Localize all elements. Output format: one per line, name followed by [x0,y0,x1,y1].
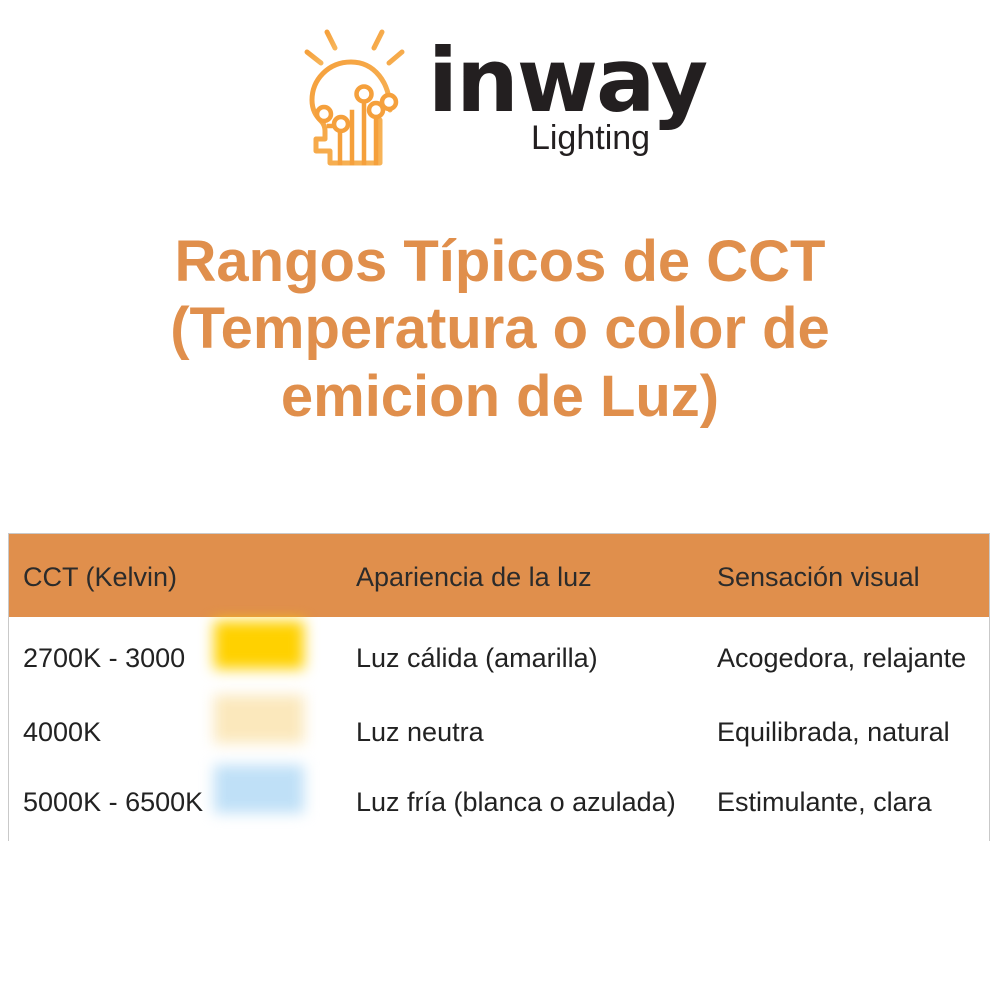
cool-blue-swatch [214,765,304,813]
cct-table: CCT (Kelvin) Apariencia de la luz Sensac… [8,533,990,841]
table-row: 4000K Luz neutra Equilibrada, natural [9,699,989,769]
cell-appearance: Luz neutra [356,717,484,748]
cell-cct: 2700K - 3000 [23,643,185,674]
lightbulb-head-circuit-icon [294,20,414,170]
warm-yellow-swatch [214,621,304,669]
brand-wordmark: inway Lighting [428,44,706,155]
brand-logo: inway Lighting [0,20,1000,170]
brand-tagline: Lighting [531,121,650,155]
cell-sensation: Estimulante, clara [717,787,932,818]
neutral-cream-swatch [214,695,304,743]
page-title-line-1: Rangos Típicos de CCT [50,228,950,295]
column-header-appearance: Apariencia de la luz [356,562,592,593]
cell-appearance: Luz fría (blanca o azulada) [356,787,676,818]
table-header-row: CCT (Kelvin) Apariencia de la luz Sensac… [9,534,989,617]
page-title-line-3: emicion de Luz) [50,363,950,430]
cell-cct: 4000K [23,717,101,748]
cct-infographic-page: inway Lighting Rangos Típicos de CCT (Te… [0,0,1000,1000]
table-row: 2700K - 3000 Luz cálida (amarilla) Acoge… [9,625,989,695]
table-body: 2700K - 3000 Luz cálida (amarilla) Acoge… [9,617,989,841]
column-header-sensation: Sensación visual [717,562,920,593]
page-title-line-2: (Temperatura o color de [50,295,950,362]
cell-sensation: Acogedora, relajante [717,643,966,674]
page-title: Rangos Típicos de CCT (Temperatura o col… [50,228,950,430]
table-row: 5000K - 6500K Luz fría (blanca o azulada… [9,769,989,839]
brand-name: inway [428,44,706,119]
cell-sensation: Equilibrada, natural [717,717,950,748]
column-header-cct: CCT (Kelvin) [23,562,177,593]
cell-appearance: Luz cálida (amarilla) [356,643,598,674]
cell-cct: 5000K - 6500K [23,787,203,818]
